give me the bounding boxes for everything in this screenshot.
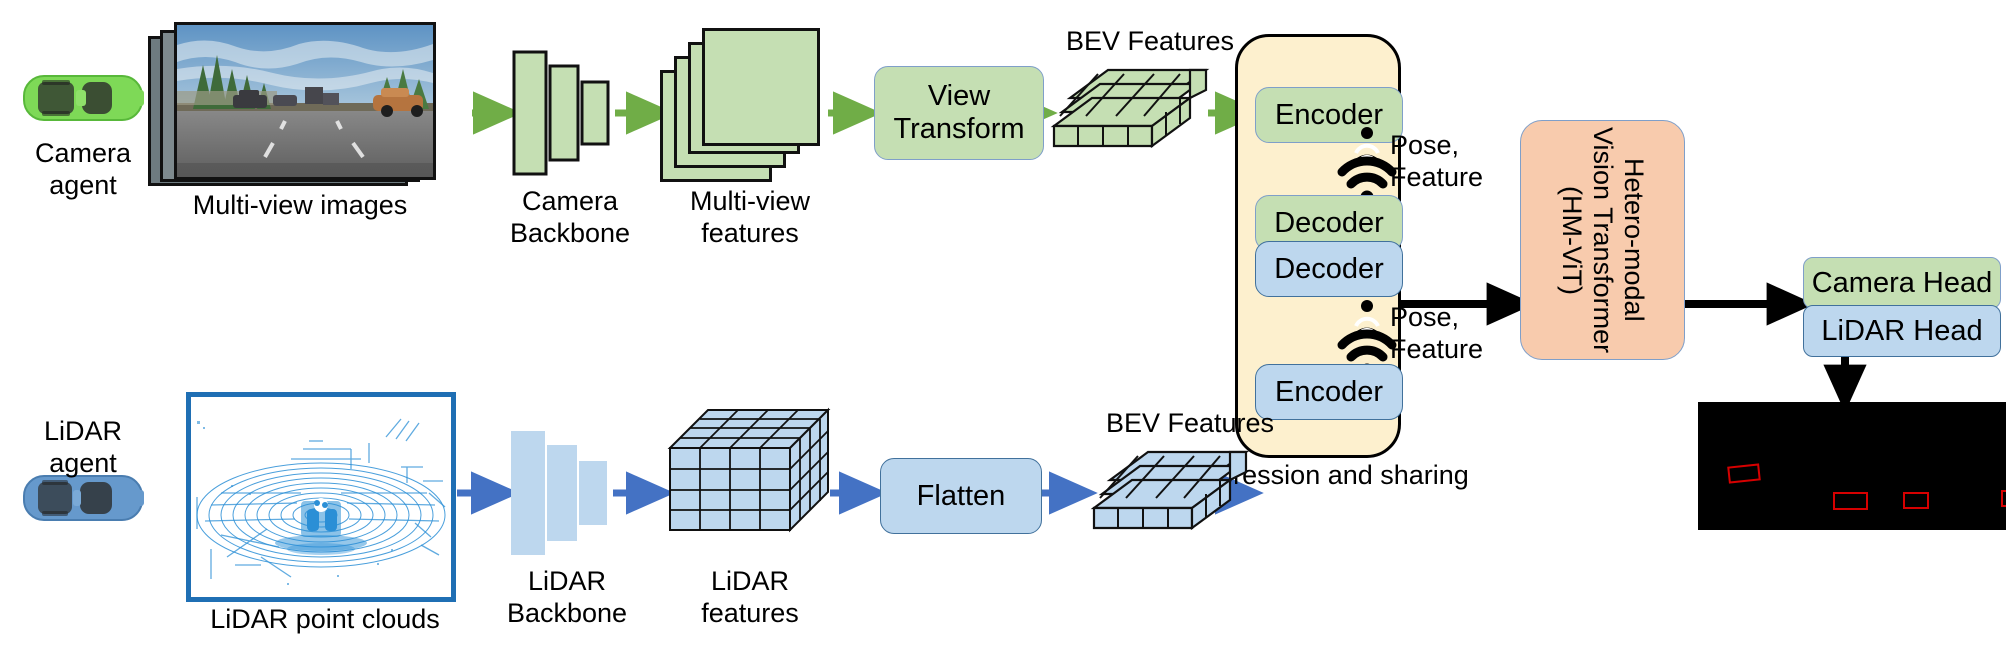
- camera-agent-car-icon: [18, 68, 148, 128]
- bev-features-lidar-grid: [1088, 448, 1258, 538]
- multi-view-images-stack: [148, 14, 468, 194]
- lidar-point-clouds-image: [186, 392, 456, 602]
- camera-backbone-label: Camera Backbone: [495, 186, 645, 250]
- lidar-features-cube: [660, 400, 840, 550]
- feature-sheet-1: [702, 28, 820, 146]
- view-transform-label: View Transform: [893, 80, 1024, 146]
- lidar-point-clouds-caption: LiDAR point clouds: [170, 604, 480, 636]
- multi-view-features-stack: [660, 26, 840, 186]
- lidar-backbone-label: LiDAR Backbone: [492, 566, 642, 630]
- flatten-block[interactable]: Flatten: [880, 458, 1042, 534]
- share-label-camera: Pose, Feature: [1390, 130, 1530, 194]
- image-sheet-front: [174, 22, 436, 180]
- bev-features-camera-grid: [1048, 66, 1218, 156]
- bev-features-camera-label: BEV Features: [1050, 26, 1250, 58]
- multi-view-features-label: Multi-view features: [655, 186, 845, 250]
- camera-head-label: Camera Head: [1812, 267, 1993, 300]
- detection-box: [2001, 490, 2006, 507]
- share-label-lidar: Pose, Feature: [1390, 302, 1530, 366]
- detection-output-image: [1698, 402, 2006, 530]
- camera-backbone-icon: [510, 48, 620, 178]
- camera-agent-label: Camera agent: [8, 138, 158, 202]
- lidar-encoder-label: Encoder: [1275, 376, 1383, 409]
- view-transform-block[interactable]: View Transform: [874, 66, 1044, 160]
- lidar-backbone-icon: [508, 428, 618, 558]
- detection-box: [1727, 463, 1761, 483]
- bev-features-lidar-label: BEV Features: [1090, 408, 1290, 440]
- hm-vit-label-line3: (HM-ViT): [1556, 186, 1587, 295]
- multi-view-images-caption: Multi-view images: [140, 190, 460, 222]
- lidar-head-block[interactable]: LiDAR Head: [1803, 305, 2001, 357]
- flatten-label: Flatten: [917, 480, 1006, 513]
- detection-box: [1833, 492, 1868, 510]
- camera-head-block[interactable]: Camera Head: [1803, 257, 2001, 309]
- lidar-features-label: LiDAR features: [655, 566, 845, 630]
- lidar-decoder-label: Decoder: [1274, 253, 1384, 286]
- hm-vit-transformer-block[interactable]: (HM-ViT) Vision Transformer Hetero-modal: [1520, 120, 1685, 360]
- hm-vit-label-line1: Hetero-modal: [1618, 158, 1649, 322]
- detection-box: [1903, 492, 1929, 509]
- lidar-head-label: LiDAR Head: [1821, 315, 1982, 348]
- hm-vit-label-line2: Vision Transformer: [1587, 127, 1618, 353]
- lidar-agent-label: LiDAR agent: [8, 416, 158, 480]
- camera-decoder-label: Decoder: [1274, 207, 1384, 240]
- lidar-decoder-block[interactable]: Decoder: [1255, 241, 1403, 297]
